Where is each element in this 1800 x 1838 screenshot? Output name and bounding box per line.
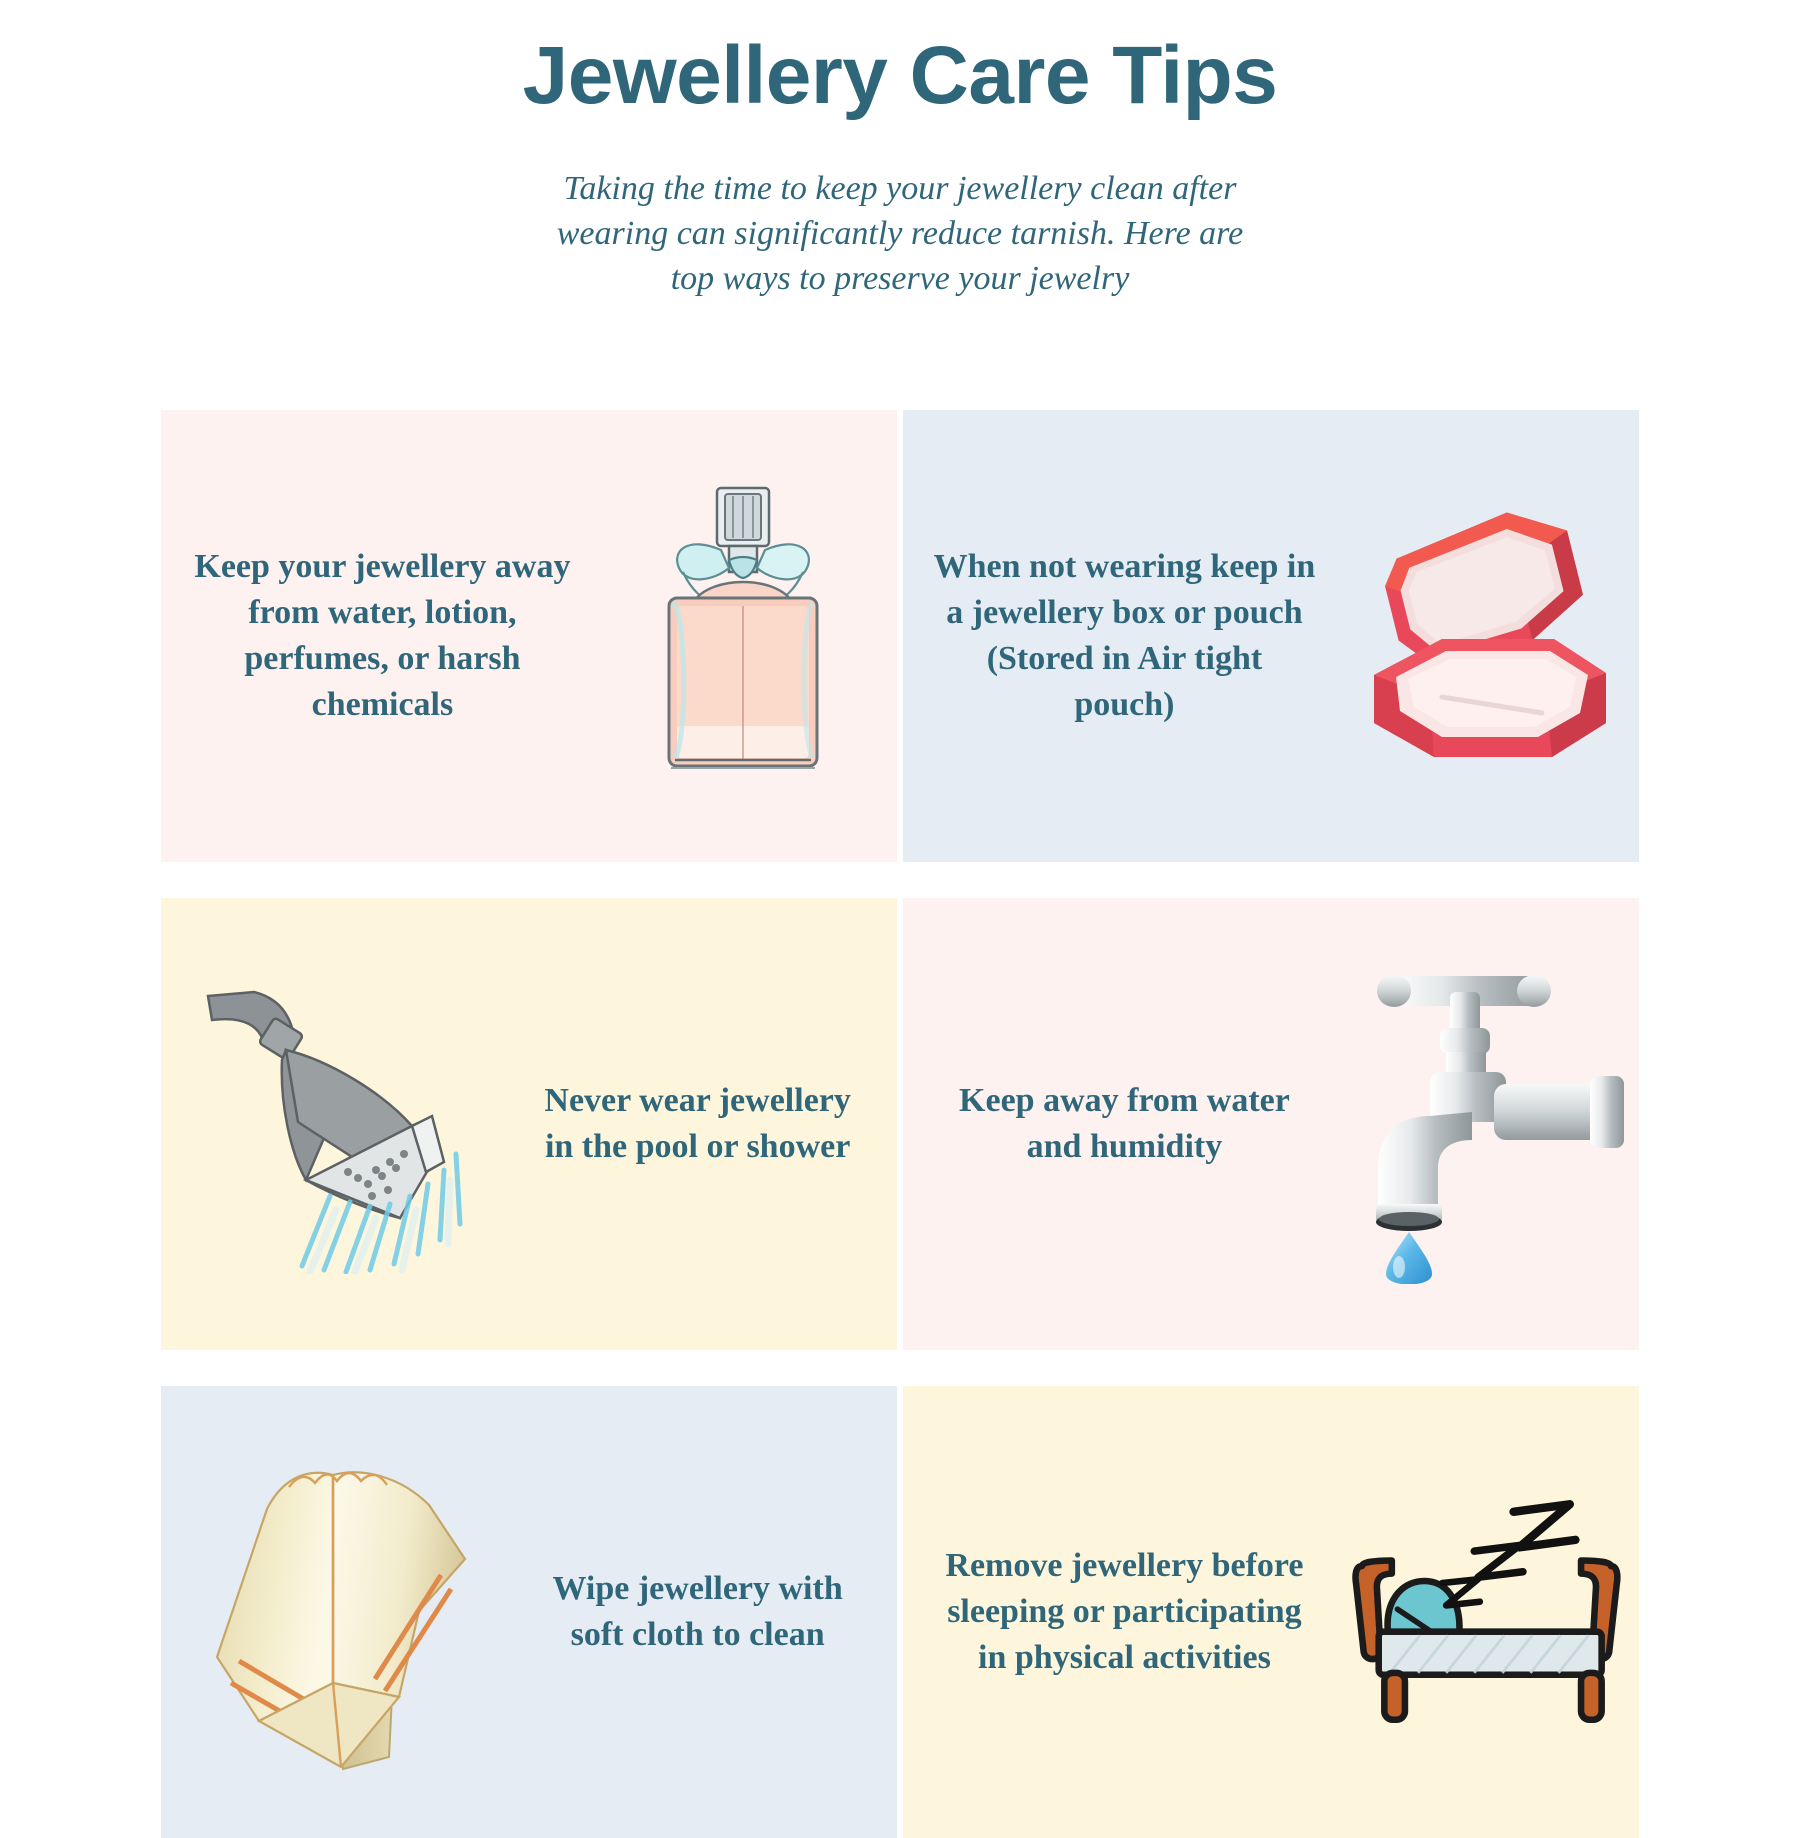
tip-text: Keep away from water and humidity — [903, 1078, 1330, 1170]
page-subtitle: Taking the time to keep your jewellery c… — [550, 166, 1250, 302]
tip-card-storage: When not wearing keep in a jewellery box… — [903, 410, 1639, 862]
page-title: Jewellery Care Tips — [0, 34, 1800, 118]
tip-text: When not wearing keep in a jewellery box… — [903, 544, 1330, 729]
tip-text: Keep your jewellery away from water, lot… — [161, 544, 588, 729]
tip-card-sleep-activity: Remove jewellery before sleeping or part… — [903, 1386, 1639, 1838]
tip-card-chemicals: Keep your jewellery away from water, lot… — [161, 410, 897, 862]
ring-box-icon — [1330, 410, 1639, 862]
tip-card-humidity: Keep away from water and humidity — [903, 898, 1639, 1350]
tip-card-wipe-cloth: Wipe jewellery with soft cloth to clean — [161, 1386, 897, 1838]
tips-grid: Keep your jewellery away from water, lot… — [161, 410, 1639, 1838]
tip-card-pool-shower: Never wear jewellery in the pool or show… — [161, 898, 897, 1350]
page-header: Jewellery Care Tips Taking the time to k… — [0, 0, 1800, 301]
perfume-bottle-icon — [588, 410, 897, 862]
shower-head-icon — [161, 898, 514, 1350]
tip-text: Never wear jewellery in the pool or show… — [514, 1078, 897, 1170]
tip-text: Wipe jewellery with soft cloth to clean — [514, 1566, 897, 1658]
tip-text: Remove jewellery before sleeping or part… — [903, 1543, 1330, 1682]
faucet-drip-icon — [1330, 898, 1639, 1350]
bed-sleeping-icon — [1330, 1386, 1639, 1838]
soft-cloth-icon — [161, 1386, 514, 1838]
